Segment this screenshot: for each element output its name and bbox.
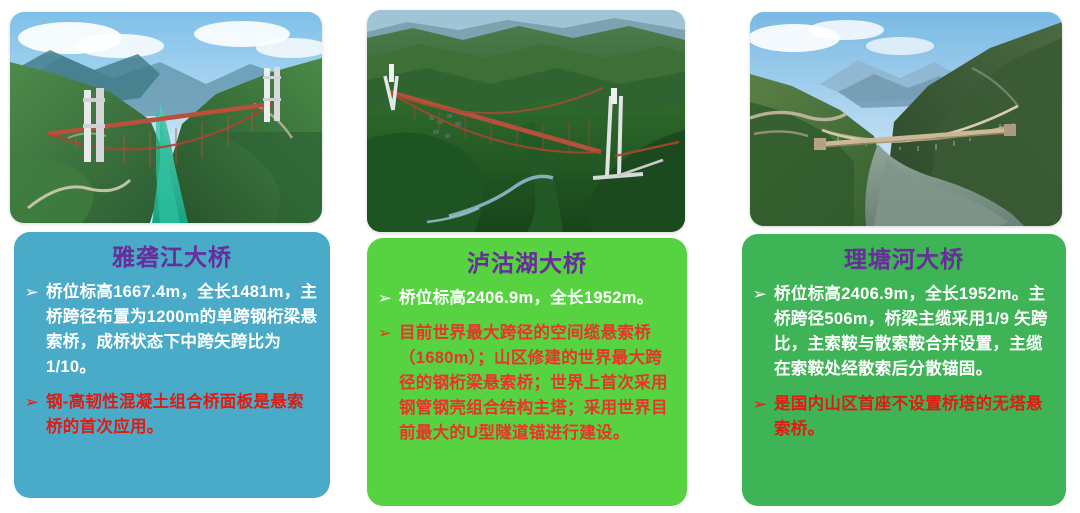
luguhu-bridge-photo: [367, 10, 685, 232]
yalongjiang-bridge-photo: [10, 12, 322, 223]
bullet-text: 钢-高韧性混凝土组合桥面板是悬索桥的首次应用。: [46, 390, 318, 440]
arrow-bullet-icon: ➢: [753, 282, 776, 307]
bullet-list: ➢ 桥位标高2406.9m，全长1952m。主桥跨径506m，桥梁主缆采用1/9…: [754, 282, 1054, 442]
card-title: 理塘河大桥: [754, 244, 1054, 274]
card-yalongjiang: 雅砻江大桥 ➢ 桥位标高1667.4m，全长1481m，主桥跨径布置为1200m…: [8, 0, 328, 513]
list-item: ➢ 桥位标高2406.9m，全长1952m。: [379, 286, 675, 311]
arrow-bullet-icon: ➢: [25, 390, 48, 415]
list-item: ➢ 桥位标高1667.4m，全长1481m，主桥跨径布置为1200m的单跨钢桁梁…: [26, 280, 318, 380]
bullet-text: 桥位标高1667.4m，全长1481m，主桥跨径布置为1200m的单跨钢桁梁悬索…: [46, 280, 318, 380]
arrow-bullet-icon: ➢: [753, 392, 776, 417]
litanghe-bridge-photo: [750, 12, 1062, 226]
luguhu-text-panel: 泸沽湖大桥 ➢ 桥位标高2406.9m，全长1952m。 ➢ 目前世界最大跨径的…: [367, 238, 687, 506]
bullet-text: 是国内山区首座不设置桥塔的无塔悬索桥。: [774, 392, 1054, 442]
list-item: ➢ 桥位标高2406.9m，全长1952m。主桥跨径506m，桥梁主缆采用1/9…: [754, 282, 1054, 382]
card-title: 泸沽湖大桥: [379, 248, 675, 278]
list-item: ➢ 是国内山区首座不设置桥塔的无塔悬索桥。: [754, 392, 1054, 442]
list-item: ➢ 钢-高韧性混凝土组合桥面板是悬索桥的首次应用。: [26, 390, 318, 440]
bullet-text: 目前世界最大跨径的空间缆悬索桥（1680m）；山区修建的世界最大跨径的钢桁梁悬索…: [399, 321, 675, 446]
arrow-bullet-icon: ➢: [25, 280, 48, 305]
bullet-text: 桥位标高2406.9m，全长1952m。: [399, 286, 675, 311]
card-title: 雅砻江大桥: [26, 242, 318, 272]
arrow-bullet-icon: ➢: [378, 286, 401, 311]
yalongjiang-text-panel: 雅砻江大桥 ➢ 桥位标高1667.4m，全长1481m，主桥跨径布置为1200m…: [14, 232, 330, 498]
bullet-list: ➢ 桥位标高1667.4m，全长1481m，主桥跨径布置为1200m的单跨钢桁梁…: [26, 280, 318, 440]
card-litanghe: 理塘河大桥 ➢ 桥位标高2406.9m，全长1952m。主桥跨径506m，桥梁主…: [740, 0, 1068, 513]
bridge-cards-board: 雅砻江大桥 ➢ 桥位标高1667.4m，全长1481m，主桥跨径布置为1200m…: [0, 0, 1080, 513]
arrow-bullet-icon: ➢: [378, 321, 401, 346]
bullet-list: ➢ 桥位标高2406.9m，全长1952m。 ➢ 目前世界最大跨径的空间缆悬索桥…: [379, 286, 675, 446]
litanghe-text-panel: 理塘河大桥 ➢ 桥位标高2406.9m，全长1952m。主桥跨径506m，桥梁主…: [742, 234, 1066, 506]
bullet-text: 桥位标高2406.9m，全长1952m。主桥跨径506m，桥梁主缆采用1/9 矢…: [774, 282, 1054, 382]
list-item: ➢ 目前世界最大跨径的空间缆悬索桥（1680m）；山区修建的世界最大跨径的钢桁梁…: [379, 321, 675, 446]
card-luguhu: 泸沽湖大桥 ➢ 桥位标高2406.9m，全长1952m。 ➢ 目前世界最大跨径的…: [365, 0, 687, 513]
